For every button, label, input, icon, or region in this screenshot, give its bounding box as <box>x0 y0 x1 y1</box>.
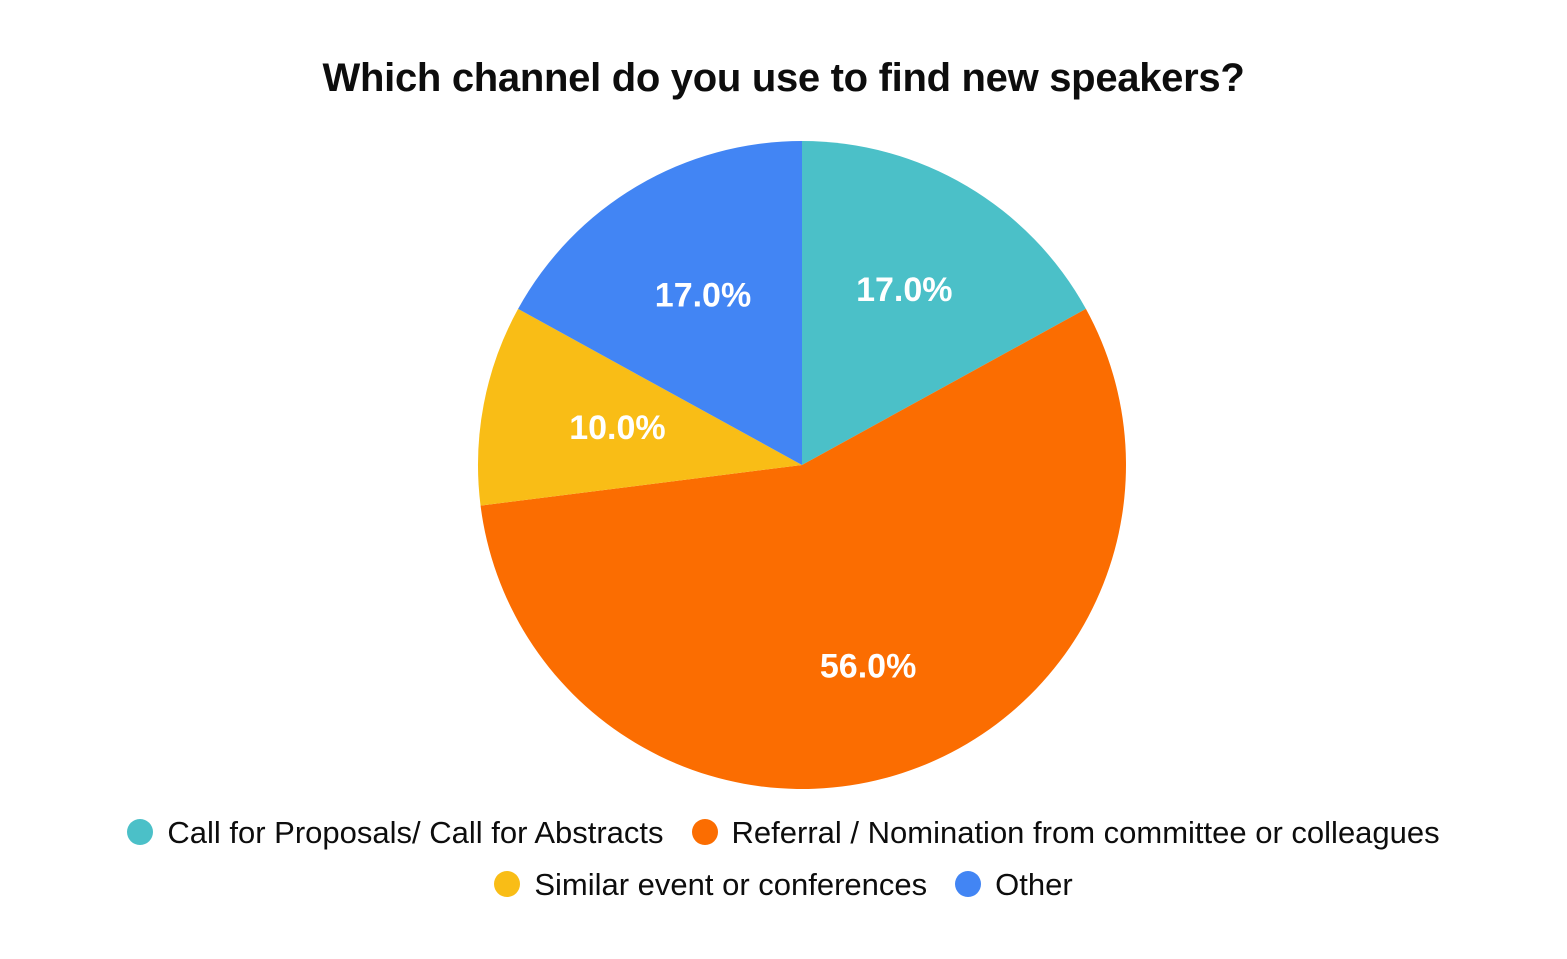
legend-row: Call for Proposals/ Call for AbstractsRe… <box>0 806 1567 858</box>
legend-row: Similar event or conferencesOther <box>0 858 1567 910</box>
legend-color-swatch-icon <box>692 819 718 845</box>
legend-item-label: Referral / Nomination from committee or … <box>732 817 1440 848</box>
legend-color-swatch-icon <box>127 819 153 845</box>
legend-item[interactable]: Other <box>955 869 1073 900</box>
pie-chart-figure: Which channel do you use to find new spe… <box>0 0 1567 959</box>
pie-slice-value-label: 10.0% <box>569 409 665 447</box>
legend-item[interactable]: Call for Proposals/ Call for Abstracts <box>127 817 663 848</box>
legend-item-label: Call for Proposals/ Call for Abstracts <box>167 817 663 848</box>
pie-slice-value-label: 17.0% <box>856 271 952 309</box>
legend-item[interactable]: Similar event or conferences <box>494 869 927 900</box>
legend-item[interactable]: Referral / Nomination from committee or … <box>692 817 1440 848</box>
pie-slice-value-label: 56.0% <box>820 647 916 685</box>
legend-item-label: Other <box>995 869 1073 900</box>
legend-color-swatch-icon <box>955 871 981 897</box>
chart-legend: Call for Proposals/ Call for AbstractsRe… <box>0 806 1567 910</box>
pie-slice-value-label: 17.0% <box>655 277 751 315</box>
legend-color-swatch-icon <box>494 871 520 897</box>
pie-svg: 17.0%56.0%10.0%17.0% <box>478 141 1126 789</box>
chart-title: Which channel do you use to find new spe… <box>0 56 1567 100</box>
pie-plot-area: 17.0%56.0%10.0%17.0% <box>478 141 1126 789</box>
legend-item-label: Similar event or conferences <box>534 869 927 900</box>
